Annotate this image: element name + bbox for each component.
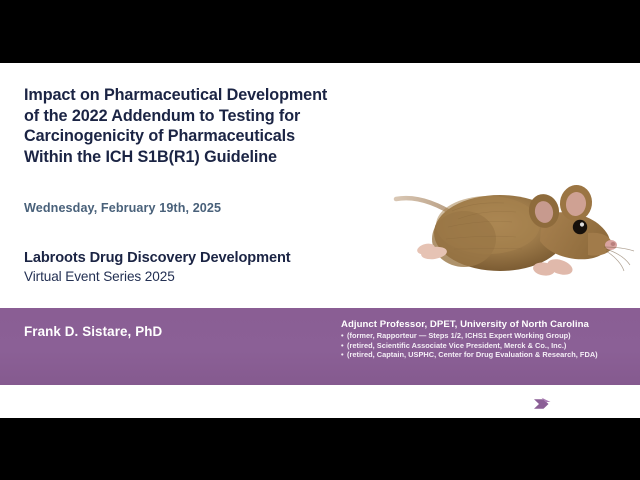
speaker-affiliation: Adjunct Professor, DPET, University of N… xyxy=(341,318,633,331)
speaker-credential-2: (retired, Scientific Associate Vice Pres… xyxy=(341,341,633,351)
slide-title-line-4: Within the ICH S1B(R1) Guideline xyxy=(24,147,404,168)
taconic-biosciences-logo: TACONIC BIOSCIENCES xyxy=(533,392,633,416)
speaker-credential-3: (retired, Captain, USPHC, Center for Dru… xyxy=(341,350,633,360)
logo-line-2: BIOSCIENCES xyxy=(557,404,624,415)
slide-title-line-2: of the 2022 Addendum to Testing for xyxy=(24,106,404,127)
letterbox-bar-bottom xyxy=(0,418,640,480)
speaker-credential-1: (former, Rapporteur — Steps 1/2, ICHS1 E… xyxy=(341,331,633,341)
event-series-subtitle: Virtual Event Series 2025 xyxy=(24,268,424,286)
slide-title-line-1: Impact on Pharmaceutical Development xyxy=(24,85,404,106)
slide-title: Impact on Pharmaceutical Development of … xyxy=(24,85,404,167)
event-series-title: Labroots Drug Discovery Development xyxy=(24,249,424,268)
logo-wordmark: TACONIC BIOSCIENCES xyxy=(557,394,624,415)
speaker-band: Frank D. Sistare, PhD Adjunct Professor,… xyxy=(0,308,640,385)
speaker-name: Frank D. Sistare, PhD xyxy=(24,324,162,339)
slide-title-line-3: Carcinogenicity of Pharmaceuticals xyxy=(24,126,404,147)
presentation-slide: Impact on Pharmaceutical Development of … xyxy=(0,63,640,418)
letterbox-bar-top xyxy=(0,0,640,63)
event-date: Wednesday, February 19th, 2025 xyxy=(24,201,221,215)
speaker-credentials: Adjunct Professor, DPET, University of N… xyxy=(341,318,633,360)
event-series: Labroots Drug Discovery Development Virt… xyxy=(24,249,424,286)
laboratory-mouse-photo xyxy=(392,155,640,307)
video-player-frame: Impact on Pharmaceutical Development of … xyxy=(0,0,640,480)
chevron-arrow-icon xyxy=(533,396,552,412)
logo-line-1: TACONIC xyxy=(557,394,624,405)
